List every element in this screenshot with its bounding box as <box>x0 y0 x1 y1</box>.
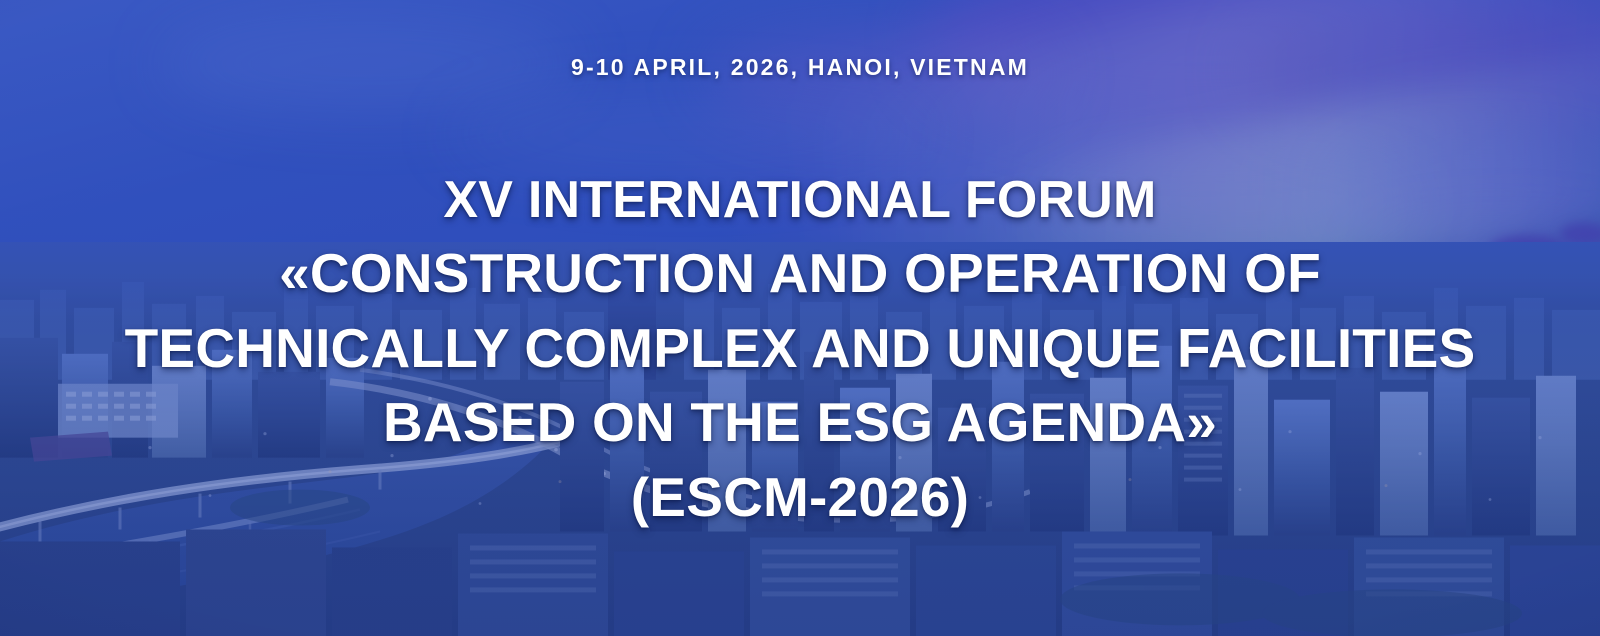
title-line-4: BASED ON THE ESG AGENDA» <box>0 385 1600 460</box>
forum-title: XV INTERNATIONAL FORUM «CONSTRUCTION AND… <box>0 165 1600 535</box>
title-line-2: «CONSTRUCTION AND OPERATION OF <box>0 236 1600 311</box>
event-date-location: 9-10 APRIL, 2026, HANOI, VIETNAM <box>571 54 1029 81</box>
title-line-5: (ESCM-2026) <box>0 460 1600 535</box>
title-line-3: TECHNICALLY COMPLEX AND UNIQUE FACILITIE… <box>0 311 1600 386</box>
banner-content: 9-10 APRIL, 2026, HANOI, VIETNAM XV INTE… <box>0 0 1600 636</box>
conference-banner: 9-10 APRIL, 2026, HANOI, VIETNAM XV INTE… <box>0 0 1600 636</box>
title-line-1: XV INTERNATIONAL FORUM <box>0 165 1600 236</box>
